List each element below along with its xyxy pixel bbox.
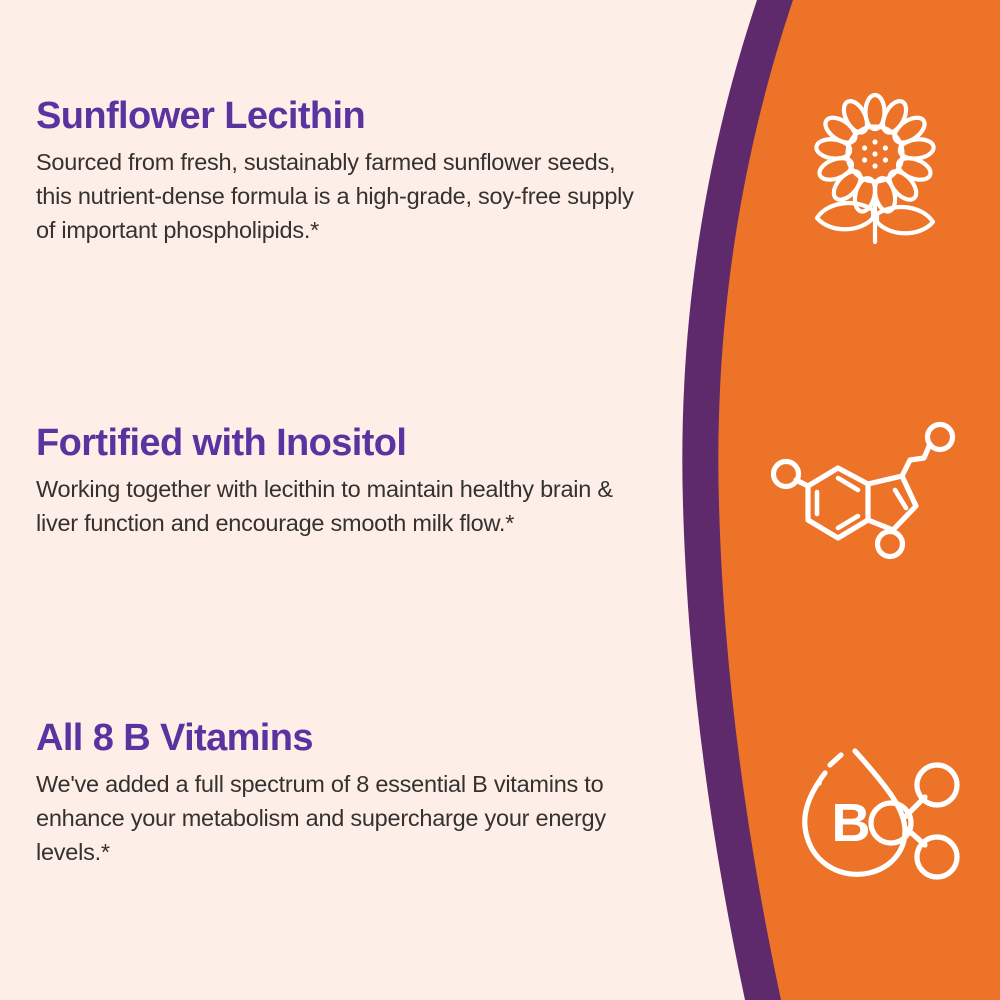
droplet-tip-stroke xyxy=(830,755,841,765)
molecule-pyrrole-ring xyxy=(868,476,916,530)
feature-title: Fortified with Inositol xyxy=(36,423,676,463)
molecule-node-top-right xyxy=(928,425,953,450)
feature-description: Working together with lecithin to mainta… xyxy=(36,473,651,541)
molecule-double-bonds xyxy=(817,478,858,528)
sunflower-leaf-right xyxy=(877,207,933,233)
feature-title: Sunflower Lecithin xyxy=(36,96,676,136)
b-vitamin-droplet-icon: B xyxy=(795,745,970,890)
molecule-side-chain xyxy=(902,444,930,476)
sunflower-icon xyxy=(795,92,955,252)
molecule-node-upper-right xyxy=(917,765,957,805)
feature-description: Sourced from fresh, sustainably farmed s… xyxy=(36,146,651,247)
molecule-ring-bond xyxy=(895,490,906,508)
product-benefits-infographic: Sunflower Lecithin Sourced from fresh, s… xyxy=(0,0,1000,1000)
molecule-node-bottom xyxy=(878,532,903,557)
sunflower-leaf-left xyxy=(817,203,873,229)
feature-item-all-8-b-vitamins: All 8 B Vitamins We've added a full spec… xyxy=(36,718,676,870)
b-letter: B xyxy=(832,793,871,853)
molecule-node-left xyxy=(774,462,799,487)
feature-title: All 8 B Vitamins xyxy=(36,718,676,758)
feature-description: We've added a full spectrum of 8 essenti… xyxy=(36,768,651,869)
droplet-tip-dot xyxy=(816,780,822,786)
feature-item-sunflower-lecithin: Sunflower Lecithin Sourced from fresh, s… xyxy=(36,96,676,248)
molecule-icon xyxy=(760,420,960,580)
feature-list: Sunflower Lecithin Sourced from fresh, s… xyxy=(0,0,700,1000)
feature-item-fortified-with-inositol: Fortified with Inositol Working together… xyxy=(36,423,676,541)
molecule-node-lower-right xyxy=(917,837,957,877)
sunflower-seeds xyxy=(862,139,888,168)
